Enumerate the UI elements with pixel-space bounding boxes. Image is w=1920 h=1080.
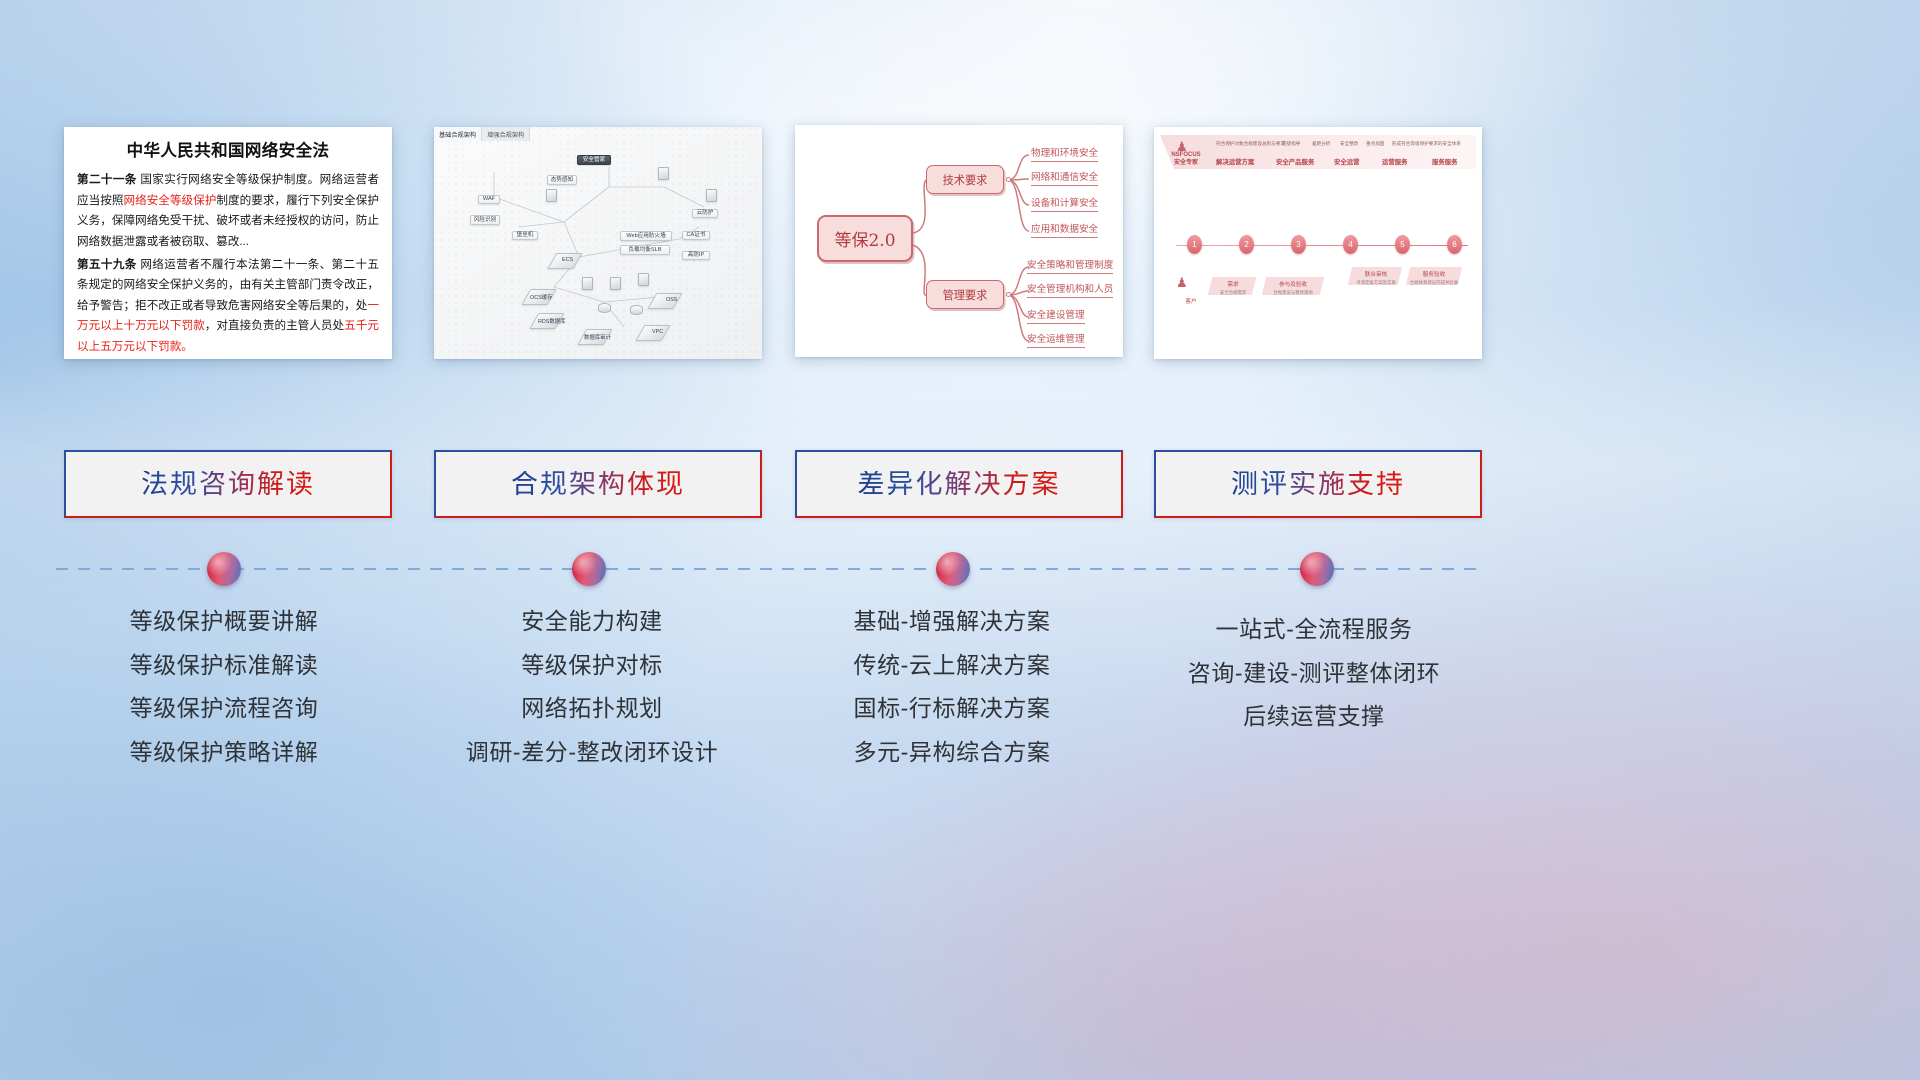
list-item: 国标-行标解决方案 [853, 691, 1050, 727]
law-title: 中华人民共和国网络安全法 [77, 137, 379, 161]
architecture-cube-4 [546, 189, 557, 202]
nsfocus-left-tag-2-label: 参与及验收 [1279, 282, 1307, 288]
nsfocus-axis [1176, 245, 1468, 246]
list-item: 等级保护标准解读 [130, 648, 319, 684]
nsfocus-right-tag-1-label: 联合审核 [1365, 272, 1387, 278]
nsfocus-top-label-0: 符合保护对象合规建设总则与要求 [1216, 141, 1285, 147]
thumbnail-card-architecture[interactable]: 基础合规架构 增强合规架构 安全管家 态势感知 WAF 风险识别 堡垒机 云防护… [434, 127, 762, 359]
nsfocus-service-3: 运营服务 [1382, 157, 1408, 166]
nsfocus-timeline: ♟ NSFOCUS 安全专家 符合保护对象合规建设总则与要求 定级指导 差距分析… [1154, 127, 1482, 359]
timeline-dashed-line [56, 568, 1484, 570]
nsfocus-top-label-4: 重点加固 [1366, 141, 1384, 147]
mindmap-collapse-dot-management[interactable] [1006, 292, 1011, 297]
nsfocus-right-tag-2-label: 服务验收 [1423, 272, 1445, 278]
architecture-node-situation[interactable]: 态势感知 [547, 175, 577, 185]
mindmap-leaf-policy[interactable]: 安全策略和管理制度 [1027, 257, 1113, 274]
nsfocus-step-3[interactable]: 3 [1291, 235, 1306, 254]
architecture-node-waf[interactable]: WAF [478, 195, 500, 204]
nsfocus-brand-name: NSFOCUS [1166, 151, 1206, 159]
section-items-2: 安全能力构建 等级保护对标 网络拓扑规划 调研-差分-整改闭环设计 [382, 604, 802, 771]
architecture-cube-6 [706, 189, 717, 202]
nsfocus-step-4[interactable]: 4 [1343, 235, 1358, 254]
architecture-node-web-firewall[interactable]: Web应用防火墙 [620, 231, 672, 241]
mindmap-leaf-device[interactable]: 设备和计算安全 [1031, 195, 1098, 212]
law-article-59-text-b: ，对直接负责的主管人员处 [205, 319, 344, 332]
nsfocus-left-tag-2: 参与及验收 合规建设与整改落地 [1262, 282, 1324, 298]
law-article-59-label: 第五十九条 [77, 258, 137, 271]
section-label-1: 法规咨询解读 [141, 471, 315, 498]
law-article-21: 第二十一条 国家实行网络安全等级保护制度。网络运营者应当按照网络安全等级保护制度… [77, 170, 379, 253]
architecture-label-vpc: VPC [652, 329, 663, 335]
list-item: 传统-云上解决方案 [853, 648, 1050, 684]
architecture-label-ecs: ECS [562, 257, 573, 263]
mindmap-root[interactable]: 等保2.0 [817, 215, 913, 262]
law-article-59: 第五十九条 网络运营者不履行本法第二十一条、第二十五条规定的网络安全保护义务的，… [77, 255, 379, 358]
nsfocus-step-1[interactable]: 1 [1187, 235, 1202, 254]
nsfocus-right-tag-2: 服务验收 合规体系建设完成并验收 [1406, 272, 1462, 288]
mindmap-branch-management[interactable]: 管理要求 [926, 280, 1004, 309]
nsfocus-service-0: 解决运营方案 [1216, 157, 1254, 166]
architecture-label-ocs: OCS缓存 [530, 293, 552, 301]
mindmap-leaf-physical[interactable]: 物理和环境安全 [1031, 145, 1098, 162]
nsfocus-left-tag-1: 需求 安全合规需求 [1212, 282, 1254, 298]
section-label-box-1[interactable]: 法规咨询解读 [64, 450, 392, 518]
nsfocus-customer-title: 客户 [1168, 299, 1214, 307]
list-item: 后续运营支撑 [1243, 699, 1385, 735]
nsfocus-brand: NSFOCUS 安全专家 [1166, 151, 1206, 167]
list-item: 等级保护策略详解 [130, 735, 319, 771]
mindmap-branch-technical[interactable]: 技术要求 [926, 165, 1004, 194]
architecture-cylinder-1 [598, 303, 611, 313]
nsfocus-top-label-3: 安全整改 [1340, 141, 1358, 147]
list-item: 网络拓扑规划 [521, 691, 663, 727]
section-label-4: 测评实施支持 [1231, 471, 1405, 498]
architecture-cube-3 [638, 273, 649, 286]
mindmap-leaf-org[interactable]: 安全管理机构和人员 [1027, 281, 1113, 298]
architecture-cube-2 [610, 277, 621, 290]
law-document: 中华人民共和国网络安全法 第二十一条 国家实行网络安全等级保护制度。网络运营者应… [64, 127, 392, 359]
architecture-diagram: 基础合规架构 增强合规架构 安全管家 态势感知 WAF 风险识别 堡垒机 云防护… [434, 127, 762, 359]
list-item: 等级保护对标 [521, 648, 663, 684]
law-article-21-highlight: 网络安全等级保护 [123, 194, 216, 207]
section-label-3: 差异化解决方案 [858, 471, 1061, 498]
section-items-3: 基础-增强解决方案 传统-云上解决方案 国标-行标解决方案 多元-异构综合方案 [742, 604, 1162, 771]
section-items-1: 等级保护概要讲解 等级保护标准解读 等级保护流程咨询 等级保护策略详解 [14, 604, 434, 771]
list-item: 基础-增强解决方案 [853, 604, 1050, 640]
list-item: 等级保护概要讲解 [130, 604, 319, 640]
mindmap-leaf-build[interactable]: 安全建设管理 [1027, 307, 1085, 324]
mindmap-leaf-ops[interactable]: 安全运维管理 [1027, 331, 1085, 348]
nsfocus-top-label-5: 形成符合等级保护要求的安全体系 [1392, 141, 1461, 147]
architecture-label-db-audit: 数据库审计 [584, 333, 611, 341]
architecture-node-anti-ddos[interactable]: 高防IP [682, 251, 710, 260]
nsfocus-step-6[interactable]: 6 [1447, 235, 1462, 254]
mindmap-leaf-application[interactable]: 应用和数据安全 [1031, 221, 1098, 238]
nsfocus-step-2[interactable]: 2 [1239, 235, 1254, 254]
thumbnail-card-law[interactable]: 中华人民共和国网络安全法 第二十一条 国家实行网络安全等级保护制度。网络运营者应… [64, 127, 392, 359]
nsfocus-top-label-1: 定级指导 [1282, 141, 1300, 147]
architecture-node-security-butler[interactable]: 安全管家 [577, 155, 611, 165]
nsfocus-left-tag-1-label: 需求 [1227, 282, 1238, 288]
section-label-box-2[interactable]: 合规架构体现 [434, 450, 762, 518]
architecture-node-ca[interactable]: CA证书 [682, 231, 710, 240]
timeline-dot-1[interactable] [207, 552, 241, 586]
nsfocus-right-tag-1: 联合审核 评测定级方案及实施 [1350, 272, 1402, 288]
timeline-dot-3[interactable] [936, 552, 970, 586]
architecture-cylinder-2 [630, 305, 643, 315]
nsfocus-brand-sub: 安全专家 [1166, 159, 1206, 167]
architecture-node-risk[interactable]: 风险识别 [470, 215, 500, 225]
architecture-cube-5 [658, 167, 669, 180]
section-label-box-3[interactable]: 差异化解决方案 [795, 450, 1123, 518]
list-item: 多元-异构综合方案 [853, 735, 1050, 771]
architecture-label-oss: OSS [666, 297, 677, 303]
customer-icon: ♟ [1176, 275, 1188, 291]
mindmap: 等保2.0 技术要求 管理要求 物理和环境安全 网络和通信安全 设备和计算安全 … [795, 125, 1123, 357]
mindmap-collapse-dot-technical[interactable] [1006, 177, 1011, 182]
section-items-4: 一站式-全流程服务 咨询-建设-测评整体闭环 后续运营支撑 [1104, 612, 1524, 735]
list-item: 咨询-建设-测评整体闭环 [1188, 656, 1441, 692]
list-item: 等级保护流程咨询 [130, 691, 319, 727]
list-item: 安全能力构建 [521, 604, 663, 640]
nsfocus-right-tag-2-sub: 合规体系建设完成并验收 [1410, 280, 1458, 285]
nsfocus-left-tag-2-sub: 合规建设与整改落地 [1273, 290, 1313, 295]
architecture-node-slb[interactable]: 负载均衡SLB [620, 245, 670, 255]
timeline-dot-2[interactable] [572, 552, 606, 586]
thumbnail-card-mindmap[interactable]: 等保2.0 技术要求 管理要求 物理和环境安全 网络和通信安全 设备和计算安全 … [795, 125, 1123, 357]
list-item: 一站式-全流程服务 [1215, 612, 1412, 648]
nsfocus-service-1: 安全产品服务 [1276, 157, 1314, 166]
timeline-dot-4[interactable] [1300, 552, 1334, 586]
mindmap-leaf-network[interactable]: 网络和通信安全 [1031, 169, 1098, 186]
architecture-node-cloud-protect[interactable]: 云防护 [692, 209, 718, 218]
nsfocus-service-4: 服务服务 [1432, 157, 1458, 166]
section-label-box-4[interactable]: 测评实施支持 [1154, 450, 1482, 518]
nsfocus-step-5[interactable]: 5 [1395, 235, 1410, 254]
nsfocus-right-tag-1-sub: 评测定级方案及实施 [1356, 280, 1396, 285]
list-item: 调研-差分-整改闭环设计 [466, 735, 719, 771]
architecture-node-bastion[interactable]: 堡垒机 [512, 231, 538, 240]
thumbnail-card-nsfocus[interactable]: ♟ NSFOCUS 安全专家 符合保护对象合规建设总则与要求 定级指导 差距分析… [1154, 127, 1482, 359]
law-article-21-label: 第二十一条 [77, 173, 137, 186]
section-label-2: 合规架构体现 [511, 471, 685, 498]
nsfocus-service-2: 安全运营 [1334, 157, 1360, 166]
nsfocus-top-label-2: 差距分析 [1312, 141, 1330, 147]
architecture-label-rds: RDS数据库 [538, 317, 566, 325]
architecture-cube-1 [582, 277, 593, 290]
nsfocus-left-tag-1-sub: 安全合规需求 [1220, 290, 1246, 295]
